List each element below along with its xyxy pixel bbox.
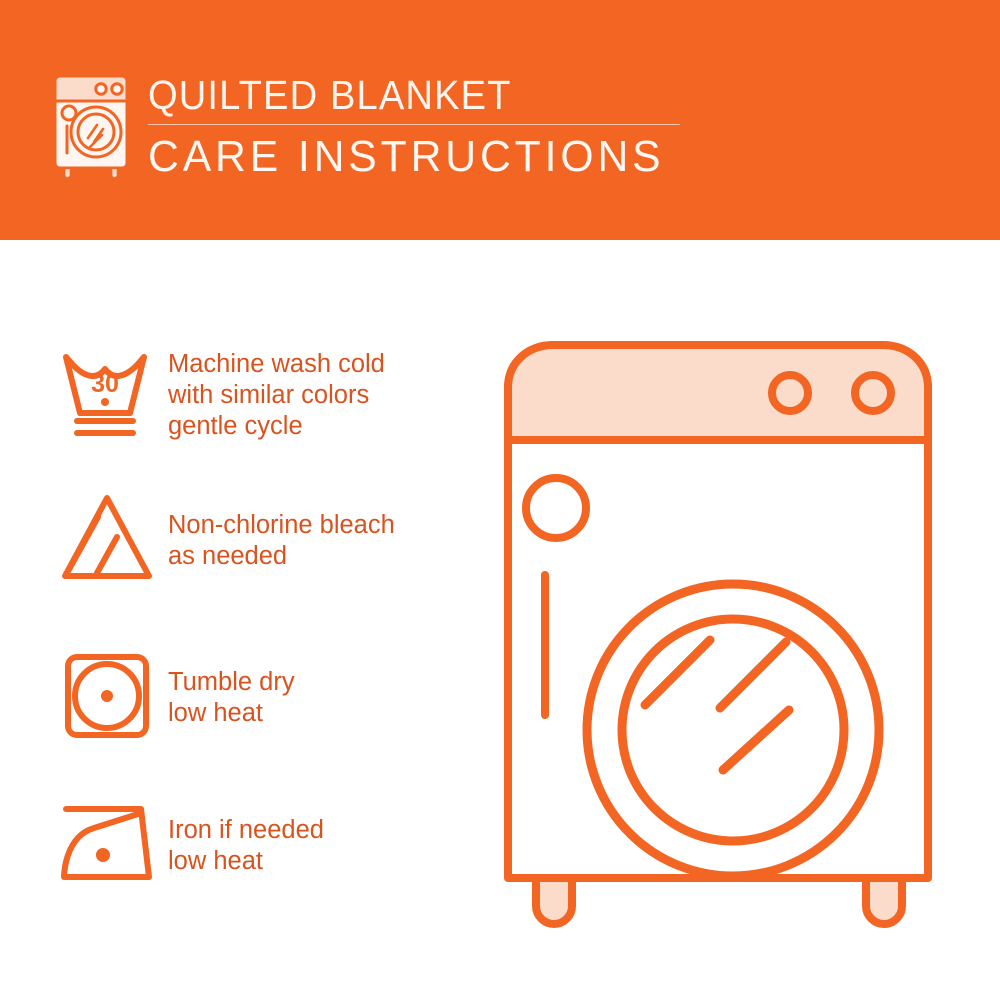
washing-machine-icon bbox=[45, 68, 140, 178]
care-item-machine-wash: 30 Machine wash cold with similar colors… bbox=[50, 345, 470, 445]
care-item-iron: Iron if needed low heat bbox=[50, 795, 470, 895]
care-instructions-page: QUILTED BLANKET CARE INSTRUCTIONS 30 Mac… bbox=[0, 0, 1000, 1000]
care-instruction-list: 30 Machine wash cold with similar colors… bbox=[0, 240, 490, 1000]
page-subtitle: CARE INSTRUCTIONS bbox=[148, 132, 691, 182]
care-item-tumble-dry: Tumble dry low heat bbox=[50, 645, 470, 745]
care-item-bleach: Non-chlorine bleach as needed bbox=[50, 488, 470, 588]
tumble-dry-icon bbox=[50, 645, 168, 745]
front-load-washing-machine-illustration bbox=[490, 330, 960, 930]
leg-right bbox=[866, 878, 902, 924]
care-item-text: Tumble dry low heat bbox=[168, 645, 295, 729]
iron-icon bbox=[50, 795, 168, 895]
title-divider bbox=[148, 124, 680, 125]
care-item-text: Iron if needed low heat bbox=[168, 795, 324, 877]
leg-left bbox=[536, 878, 572, 924]
svg-text:30: 30 bbox=[91, 370, 119, 398]
wash-tub-30-icon: 30 bbox=[50, 345, 168, 445]
care-item-text: Machine wash cold with similar colors ge… bbox=[168, 345, 385, 442]
page-header: QUILTED BLANKET CARE INSTRUCTIONS bbox=[0, 0, 1000, 240]
triangle-bleach-icon bbox=[50, 488, 168, 588]
knob-right bbox=[855, 375, 891, 411]
page-title: QUILTED BLANKET bbox=[148, 72, 669, 118]
knob-left bbox=[772, 375, 808, 411]
care-item-text: Non-chlorine bleach as needed bbox=[168, 488, 395, 572]
header-title-block: QUILTED BLANKET CARE INSTRUCTIONS bbox=[148, 72, 708, 182]
